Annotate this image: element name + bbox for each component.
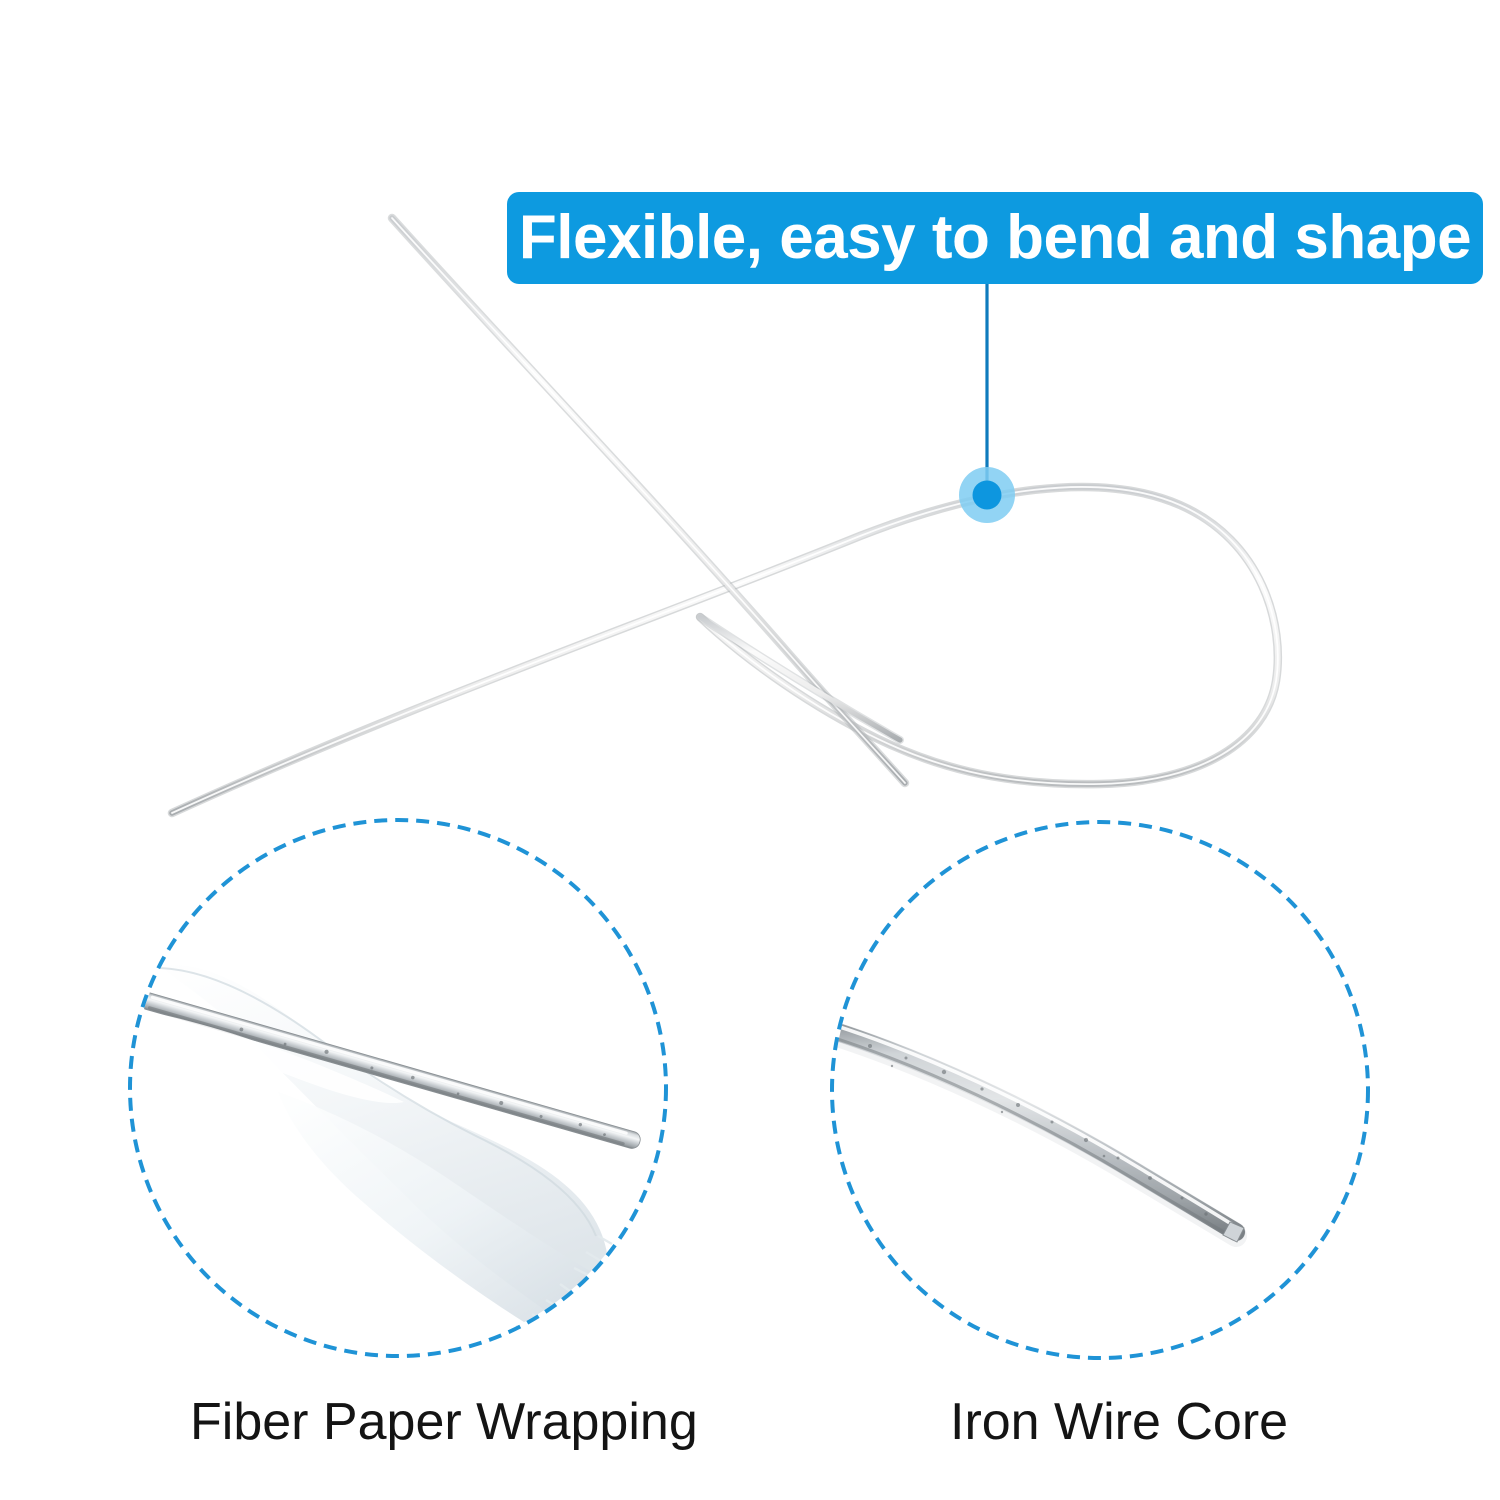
wire-free-strand — [392, 218, 905, 783]
iron-rod-right — [812, 1019, 1244, 1242]
wire-loop-strand — [172, 487, 1278, 813]
detail-circle-left-border — [130, 820, 666, 1356]
headline-text: Flexible, easy to bend and shape — [519, 207, 1471, 269]
hero-wire-group — [172, 218, 1278, 813]
detail-caption-iron-wire-core: Iron Wire Core — [950, 1396, 1288, 1448]
iron-rod-left — [138, 991, 652, 1225]
detail-fiber-paper-wrapping — [130, 820, 666, 1356]
wire-tail-strand — [700, 617, 900, 740]
callout-group — [959, 284, 1015, 523]
callout-marker-halo — [959, 467, 1015, 523]
callout-marker-core — [973, 481, 1002, 510]
detail-iron-wire-core — [812, 822, 1368, 1358]
detail-circle-right-border — [832, 822, 1368, 1358]
infographic-canvas: Flexible, easy to bend and shape Fiber P… — [0, 0, 1500, 1500]
headline-banner: Flexible, easy to bend and shape — [507, 192, 1483, 284]
detail-caption-fiber-paper-wrapping: Fiber Paper Wrapping — [190, 1396, 698, 1448]
